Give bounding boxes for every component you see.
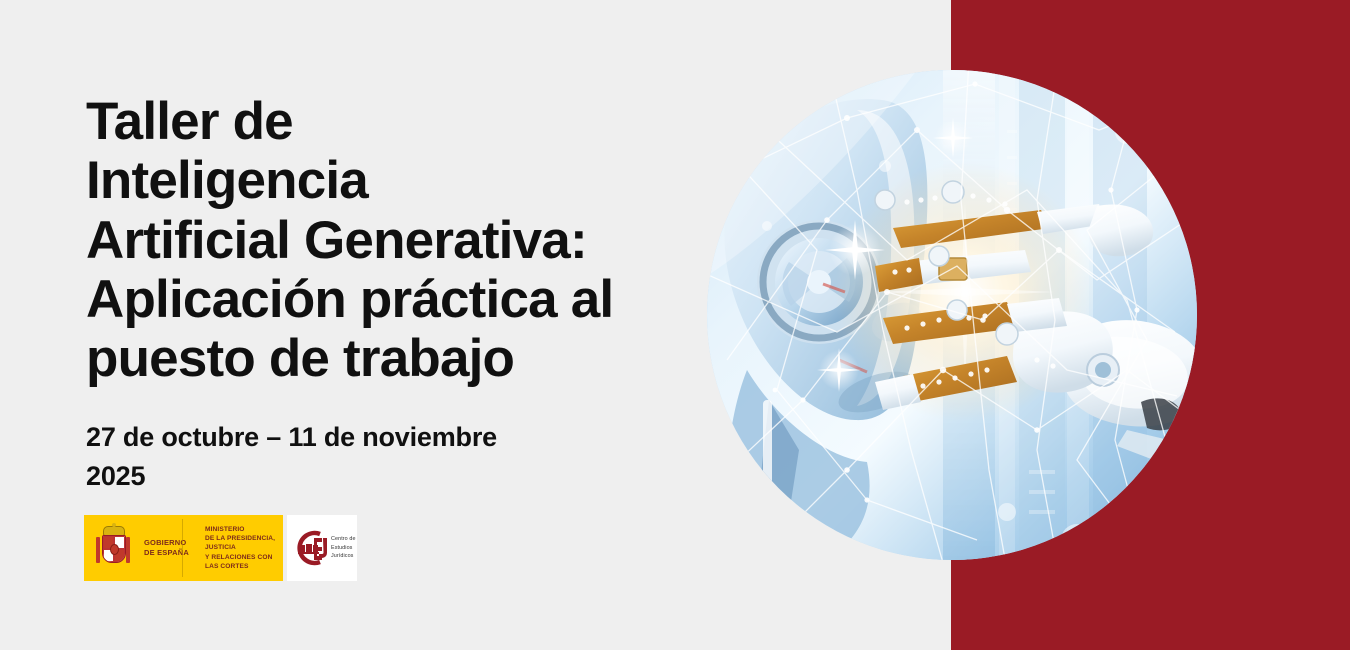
page-title: Taller de Inteligencia Artificial Genera… bbox=[86, 92, 706, 389]
cej-monogram-icon bbox=[290, 527, 330, 569]
cej-logo: Centro de Estudios Jurídicos bbox=[287, 515, 357, 581]
cej-label: Centro de Estudios Jurídicos bbox=[331, 535, 356, 560]
event-dates: 27 de octubre – 11 de noviembre 2025 bbox=[86, 418, 646, 496]
ai-robot-illustration bbox=[707, 70, 1197, 560]
logo-strip: GOBIERNO DE ESPAÑA MINISTERIO DE LA PRES… bbox=[84, 515, 357, 581]
government-label: GOBIERNO DE ESPAÑA bbox=[144, 538, 189, 558]
ministry-label: MINISTERIO DE LA PRESIDENCIA, JUSTICIA Y… bbox=[205, 525, 283, 572]
spain-coat-of-arms-icon bbox=[96, 526, 130, 570]
ai-robot-photo bbox=[707, 70, 1197, 560]
government-of-spain-logo: GOBIERNO DE ESPAÑA MINISTERIO DE LA PRES… bbox=[84, 515, 283, 581]
event-banner: Taller de Inteligencia Artificial Genera… bbox=[0, 0, 1350, 650]
